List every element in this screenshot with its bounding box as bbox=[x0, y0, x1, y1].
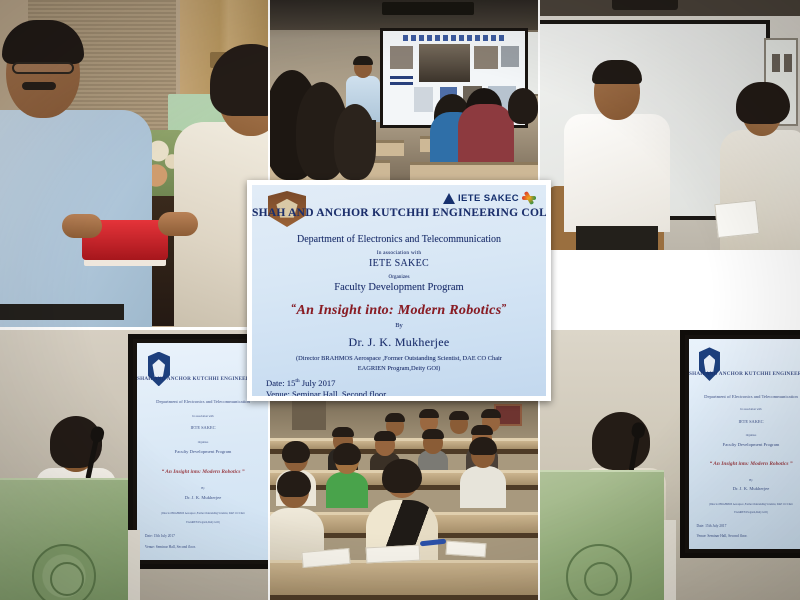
starburst-icon bbox=[522, 191, 536, 205]
slide-title: “ An Insight into: Modern Robotics ” bbox=[137, 469, 268, 475]
hair bbox=[210, 44, 268, 116]
trousers bbox=[576, 226, 658, 250]
slide-credentials-2: EAGRIEN Program,Deity GOI) bbox=[137, 521, 268, 524]
photo-collage: SHAH AND ANCHOR KUTCHHI ENGINEERING COLL… bbox=[0, 0, 800, 600]
slide-venue: Venue: Seminar Hall, Second floor. bbox=[145, 545, 268, 549]
hand-right bbox=[158, 212, 198, 236]
audience-row2-2 bbox=[326, 446, 368, 508]
slide-organizes: Organizes bbox=[689, 434, 800, 437]
venue-label: Venue: bbox=[266, 389, 290, 396]
poster-date: Date: 15th July 2017 bbox=[266, 378, 540, 388]
poster-speaker-name: Dr. J. K. Mukherjee bbox=[252, 335, 546, 350]
slide-assoc: In association with bbox=[137, 415, 268, 418]
belt bbox=[0, 304, 124, 320]
date-rest: July 2017 bbox=[300, 378, 336, 388]
audience-foreground-3 bbox=[334, 104, 376, 180]
college-seal-icon bbox=[566, 544, 632, 600]
hair bbox=[385, 413, 405, 422]
panel-audience bbox=[270, 400, 538, 600]
hair bbox=[422, 429, 444, 439]
slide-image-d bbox=[501, 46, 519, 67]
podium bbox=[540, 470, 664, 600]
slide-title: “ An Insight into: Modern Robotics ” bbox=[689, 461, 800, 467]
hand-left bbox=[62, 214, 102, 238]
faculty-standing bbox=[720, 86, 800, 250]
spectacles-icon bbox=[12, 62, 74, 74]
handout-paper bbox=[366, 545, 421, 564]
slide-by: By bbox=[137, 486, 268, 490]
gutter-horizontal-right bbox=[540, 250, 800, 253]
slide-image-a bbox=[390, 46, 413, 69]
slide-program: Faculty Development Program bbox=[137, 449, 268, 454]
air-conditioner bbox=[382, 2, 474, 15]
audience-head bbox=[508, 88, 538, 124]
slide-venue: Venue: Seminar Hall, Second floor. bbox=[696, 534, 800, 538]
gutter-horizontal-left bbox=[0, 327, 268, 330]
title-part-2: Modern Robotics bbox=[398, 303, 502, 318]
slide-image-c bbox=[474, 46, 498, 69]
poster-venue: Venue: Seminar Hall, Second floor. bbox=[266, 389, 540, 396]
audience-row2-3 bbox=[460, 440, 506, 508]
slide-program: Faculty Development Program bbox=[689, 442, 800, 447]
poster-credentials-1: (Director BRAHMOS Aerospace ,Former Outs… bbox=[252, 355, 546, 362]
slide-date: Date: 15th July 2017 bbox=[145, 534, 268, 538]
poster-college-name: SHAH AND ANCHOR KUTCHHI ENGINEERING COLL… bbox=[252, 207, 546, 219]
close-quote: ” bbox=[501, 303, 506, 314]
body bbox=[460, 466, 506, 508]
poster-organizes: Organizes bbox=[252, 274, 546, 280]
body bbox=[326, 472, 368, 508]
college-seal-icon bbox=[32, 544, 96, 600]
projected-event-slide: SHAH AND ANCHOR KUTCHHI ENGINEERING COLL… bbox=[689, 339, 800, 549]
slide-credentials-1: (Director BRAHMOS Aerospace ,Former Outs… bbox=[689, 503, 800, 506]
poster-credentials-2: EAGRIEN Program,Deity GOI) bbox=[252, 365, 546, 372]
slide-text-lines bbox=[390, 76, 413, 79]
slide-image-e bbox=[414, 87, 432, 111]
panel-lecture bbox=[270, 0, 538, 180]
poster-department: Department of Electronics and Telecommun… bbox=[252, 234, 546, 245]
door bbox=[292, 400, 326, 430]
hair bbox=[332, 427, 354, 437]
slide-iete: IETE SAKEC bbox=[689, 419, 800, 424]
slide-credentials-2: EAGRIEN Program,Deity GOI) bbox=[689, 511, 800, 514]
panel-podium-right: SHAH AND ANCHOR KUTCHHI ENGINEERING COLL… bbox=[540, 330, 800, 600]
hair bbox=[382, 459, 422, 493]
hair bbox=[353, 56, 373, 65]
hair bbox=[2, 20, 84, 64]
panel-felicitation bbox=[0, 0, 268, 327]
iete-logo-label: IETE SAKEC bbox=[458, 193, 519, 204]
hair bbox=[592, 60, 642, 84]
slide-assoc: In association with bbox=[689, 408, 800, 411]
hair bbox=[481, 409, 501, 418]
poster-program: Faculty Development Program bbox=[252, 282, 546, 293]
title-part-1: An Insight into: bbox=[297, 303, 394, 318]
handout-paper bbox=[446, 541, 487, 558]
poster-title: “An Insight into: Modern Robotics” bbox=[252, 303, 546, 319]
hair bbox=[374, 431, 396, 441]
date-label: Date: bbox=[266, 378, 285, 388]
audience-body-maroon bbox=[458, 104, 514, 162]
panel-podium-left: SHAH AND ANCHOR KUTCHHI ENGINEERING COLL… bbox=[0, 330, 268, 600]
moustache bbox=[22, 82, 56, 90]
poster-association-prefix: In association with bbox=[252, 250, 546, 256]
slide-department: Department of Electronics and Telecommun… bbox=[689, 394, 800, 399]
slide-iete: IETE SAKEC bbox=[137, 425, 268, 430]
slide-speaker: Dr. J. K. Mukherjee bbox=[137, 495, 268, 500]
hair bbox=[282, 441, 310, 463]
projector bbox=[612, 0, 678, 10]
hair bbox=[449, 411, 469, 420]
poster-by: By bbox=[252, 322, 546, 329]
hair bbox=[736, 82, 790, 124]
panel-speakers bbox=[540, 0, 800, 250]
podium bbox=[0, 478, 128, 600]
hair bbox=[419, 409, 439, 418]
slide-organizes: Organizes bbox=[137, 441, 268, 444]
guest-speaker-figure bbox=[0, 26, 154, 327]
hair bbox=[592, 412, 650, 470]
slide-speaker: Dr. J. K. Mukherjee bbox=[689, 486, 800, 491]
hair bbox=[333, 443, 361, 465]
iete-sakec-logo: IETE SAKEC bbox=[443, 191, 536, 205]
guest-speaker-seated bbox=[564, 64, 670, 250]
event-poster: IETE SAKEC SHAH AND ANCHOR KUTCHHI ENGIN… bbox=[252, 185, 546, 396]
venue-value: Seminar Hall, Second floor. bbox=[290, 389, 388, 396]
slide-date: Date: 15th July 2017 bbox=[696, 524, 800, 528]
hair bbox=[469, 437, 497, 455]
event-poster-card: IETE SAKEC SHAH AND ANCHOR KUTCHHI ENGIN… bbox=[247, 180, 551, 401]
slide-credentials-1: (Director BRAHMOS Aerospace ,Former Outs… bbox=[137, 512, 268, 515]
hair bbox=[471, 425, 493, 435]
triangle-icon bbox=[443, 193, 455, 204]
shirt bbox=[564, 114, 670, 232]
poster-association-body: IETE SAKEC bbox=[252, 258, 546, 269]
projection-screen-frame: SHAH AND ANCHOR KUTCHHI ENGINEERING COLL… bbox=[680, 330, 800, 558]
slide-by: By bbox=[689, 478, 800, 482]
hair bbox=[277, 471, 311, 497]
slide-image-b bbox=[419, 44, 470, 82]
slide-title-bar bbox=[403, 35, 505, 41]
slide-college: SHAH AND ANCHOR KUTCHHI ENGINEERING COLL… bbox=[689, 371, 800, 377]
held-papers bbox=[714, 200, 759, 238]
desk-row-4 bbox=[410, 162, 538, 180]
